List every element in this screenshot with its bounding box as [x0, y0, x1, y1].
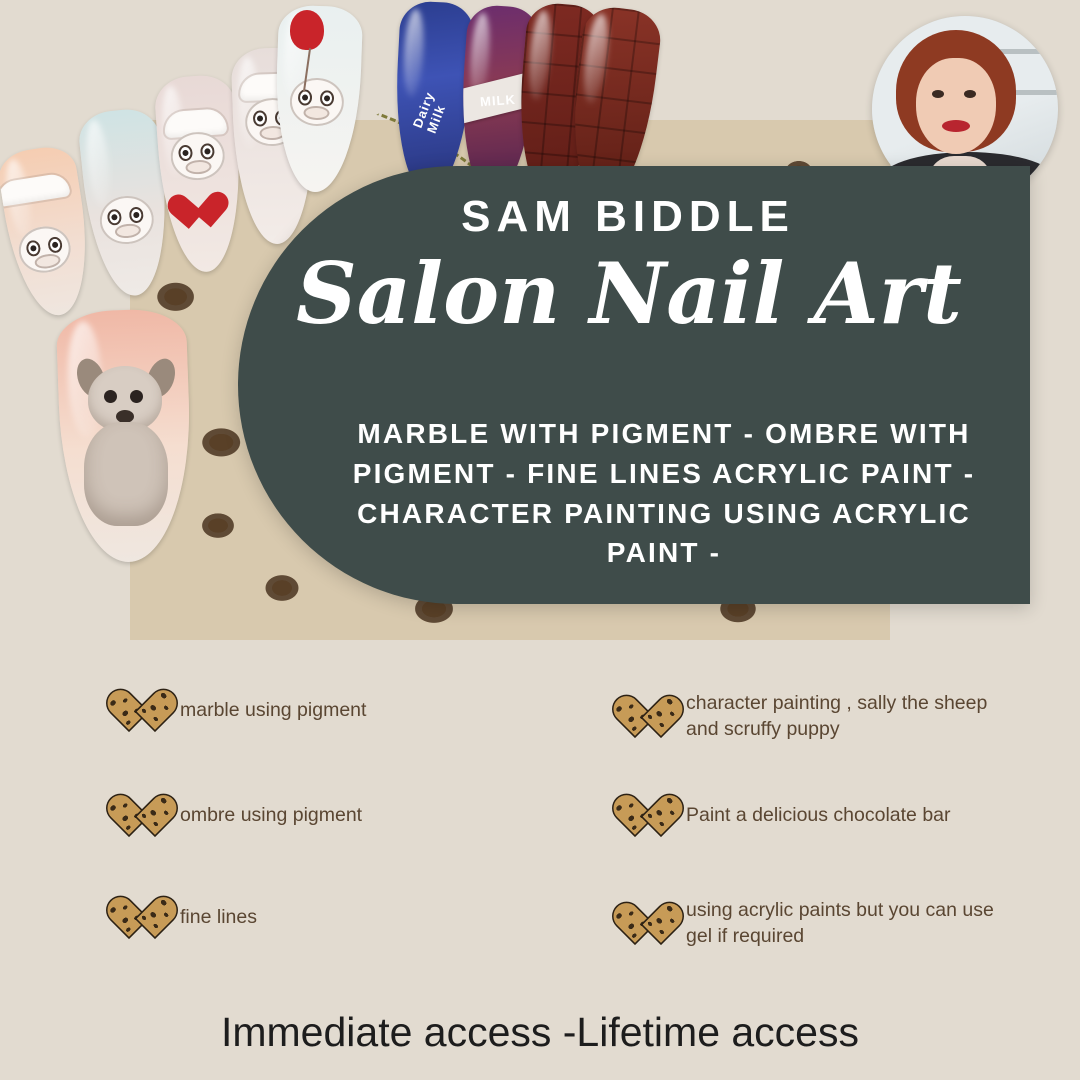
- leopard-heart-icon: [120, 897, 164, 937]
- sheep-eye-right: [200, 143, 215, 160]
- sheep-eye-left: [253, 110, 268, 126]
- sheep-eye-right: [129, 206, 145, 223]
- puppy-illustration: [74, 356, 176, 534]
- feature-item: character painting , sally the sheep and…: [626, 690, 1016, 743]
- feature-item: fine lines: [120, 897, 257, 937]
- nail-sheen: [402, 8, 426, 97]
- feature-label: ombre using pigment: [180, 802, 362, 828]
- feature-label: Paint a delicious chocolate bar: [686, 802, 951, 828]
- avatar-eye-right: [964, 90, 976, 98]
- avatar-face: [916, 58, 996, 154]
- brand-name: SAM BIDDLE: [238, 192, 1018, 242]
- feature-label: using acrylic paints but you can use gel…: [686, 897, 1016, 950]
- title-card: SAM BIDDLE Salon Nail Art MARBLE WITH PI…: [238, 166, 1030, 604]
- nail-sheen: [84, 119, 114, 206]
- puppy-eye-left: [104, 390, 117, 403]
- puppy-body: [84, 422, 168, 526]
- leopard-heart-icon: [626, 696, 670, 736]
- feature-label: character painting , sally the sheep and…: [686, 690, 1016, 743]
- leopard-heart-icon: [626, 795, 670, 835]
- leopard-heart-icon: [120, 690, 164, 730]
- feature-label: marble using pigment: [180, 697, 366, 723]
- sheep-eye-right: [320, 90, 335, 106]
- access-footer-text: Immediate access -Lifetime access: [0, 1009, 1080, 1056]
- feature-item: ombre using pigment: [120, 795, 362, 835]
- avatar-lips: [942, 120, 970, 132]
- feature-label: fine lines: [180, 904, 257, 930]
- sheep-muzzle: [34, 252, 62, 270]
- sheep-eye-right: [47, 236, 63, 254]
- feature-item: marble using pigment: [120, 690, 366, 730]
- puppy-eye-right: [130, 390, 143, 403]
- sheep-muzzle: [114, 223, 141, 240]
- sheep-face: [289, 77, 345, 127]
- sheep-eye-left: [298, 89, 313, 105]
- red-balloon-icon: [290, 10, 324, 50]
- page-title: Salon Nail Art: [238, 250, 1020, 338]
- sheep-eye-left: [107, 209, 123, 226]
- sheep-eye-left: [25, 239, 41, 257]
- feature-list: marble using pigment ombre using pigment…: [0, 662, 1080, 962]
- poster-canvas: Dairy Milk MILK: [0, 0, 1080, 1080]
- leopard-heart-icon: [626, 903, 670, 943]
- leopard-heart-icon: [120, 795, 164, 835]
- course-topics-subheading: MARBLE WITH PIGMENT - OMBRE WITH PIGMENT…: [320, 414, 1008, 573]
- sheep-muzzle: [185, 159, 212, 175]
- feature-item: Paint a delicious chocolate bar: [626, 795, 951, 835]
- sheep-eye-left: [178, 144, 193, 161]
- avatar-eye-left: [932, 90, 944, 98]
- feature-item: using acrylic paints but you can use gel…: [626, 897, 1016, 950]
- nail-label-milk: MILK: [480, 92, 517, 109]
- sheep-muzzle: [303, 106, 329, 121]
